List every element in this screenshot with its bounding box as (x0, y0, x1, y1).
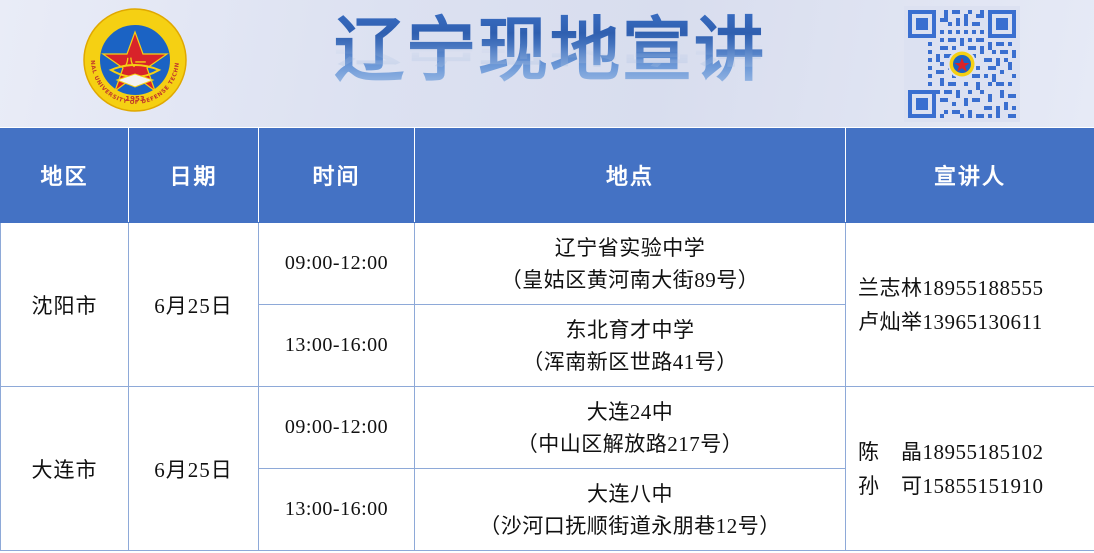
cell-venue: 大连八中 （沙河口抚顺街道永朋巷12号） (415, 469, 846, 551)
venue-address: （皇姑区黄河南大街89号） (415, 264, 845, 296)
table-header-row: 地区 日期 时间 地点 宣讲人 (1, 128, 1094, 223)
qr-center-seal-icon (949, 51, 975, 77)
banner-header: 八一 国 防 科 技 大 学 NATIONAL UNIVERSITY OF DE… (0, 0, 1094, 127)
seal-graphic: 八一 国 防 科 技 大 学 NATIONAL UNIVERSITY OF DE… (83, 8, 187, 112)
cell-date: 6月25日 (129, 223, 259, 387)
speaker-entry: 陈 晶18955185102 (858, 440, 1044, 464)
cell-time: 13:00-16:00 (259, 305, 415, 387)
speaker-entry: 孙 可15855151910 (858, 474, 1044, 498)
table-body: 沈阳市 6月25日 09:00-12:00 辽宁省实验中学 （皇姑区黄河南大街8… (1, 223, 1094, 551)
svg-text:1953: 1953 (125, 95, 145, 103)
cell-time: 13:00-16:00 (259, 469, 415, 551)
qr-center-logo (949, 51, 975, 77)
poster-page: 八一 国 防 科 技 大 学 NATIONAL UNIVERSITY OF DE… (0, 0, 1094, 553)
venue-address: （中山区解放路217号） (415, 428, 845, 460)
venue-name: 东北育才中学 (415, 314, 845, 346)
speaker-entry: 卢灿举13965130611 (858, 310, 1043, 334)
table-row: 沈阳市 6月25日 09:00-12:00 辽宁省实验中学 （皇姑区黄河南大街8… (1, 223, 1094, 305)
schedule-table: 地区 日期 时间 地点 宣讲人 沈阳市 6月25日 09:00-12:00 辽宁… (0, 127, 1094, 551)
svg-text:八一: 八一 (123, 56, 146, 69)
venue-address: （浑南新区世路41号） (415, 346, 845, 378)
page-title: 辽宁现地宣讲 (300, 8, 800, 92)
venue-name: 大连24中 (415, 396, 845, 428)
venue-name: 大连八中 (415, 478, 845, 510)
cell-speaker: 兰志林18955188555 卢灿举13965130611 (846, 223, 1094, 387)
cell-region: 大连市 (1, 387, 129, 551)
venue-address: （沙河口抚顺街道永朋巷12号） (415, 510, 845, 542)
seal-svg: 八一 国 防 科 技 大 学 NATIONAL UNIVERSITY OF DE… (83, 8, 187, 112)
university-seal-logo: 八一 国 防 科 技 大 学 NATIONAL UNIVERSITY OF DE… (76, 4, 194, 124)
cell-venue: 辽宁省实验中学 （皇姑区黄河南大街89号） (415, 223, 846, 305)
qr-code[interactable] (904, 6, 1020, 122)
table-row: 大连市 6月25日 09:00-12:00 大连24中 （中山区解放路217号）… (1, 387, 1094, 469)
cell-venue: 大连24中 （中山区解放路217号） (415, 387, 846, 469)
table-header: 地区 日期 时间 地点 宣讲人 (1, 128, 1094, 223)
cell-date: 6月25日 (129, 387, 259, 551)
cell-time: 09:00-12:00 (259, 387, 415, 469)
column-header-region: 地区 (1, 128, 129, 223)
banner-title-block: 辽宁现地宣讲 辽宁现地宣讲 (300, 8, 800, 126)
cell-region: 沈阳市 (1, 223, 129, 387)
column-header-time: 时间 (259, 128, 415, 223)
cell-speaker: 陈 晶18955185102 孙 可15855151910 (846, 387, 1094, 551)
cell-time: 09:00-12:00 (259, 223, 415, 305)
venue-name: 辽宁省实验中学 (415, 232, 845, 264)
cell-venue: 东北育才中学 （浑南新区世路41号） (415, 305, 846, 387)
column-header-date: 日期 (129, 128, 259, 223)
speaker-entry: 兰志林18955188555 (858, 276, 1044, 300)
column-header-venue: 地点 (415, 128, 846, 223)
column-header-speaker: 宣讲人 (846, 128, 1094, 223)
